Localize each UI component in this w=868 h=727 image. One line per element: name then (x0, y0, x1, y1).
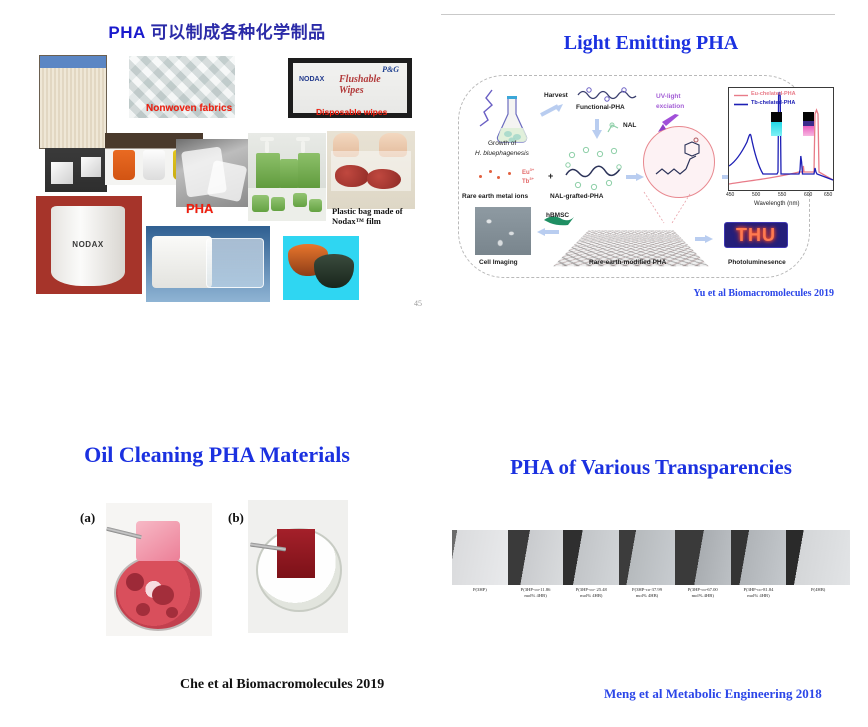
vial-photo-cyan (771, 112, 782, 136)
film-label-3: P(3HP-co- 25.48 mol% 4HB) (563, 587, 619, 598)
film-label-7-line1: P(4HB) (786, 587, 850, 593)
arrow-to-photoluminesence (694, 234, 714, 244)
green-bottle-right (298, 153, 320, 189)
legend-eu-line (734, 93, 748, 98)
film-label-3-line2: mol% 4HB) (563, 593, 619, 599)
label-uv-light: UV-light (656, 93, 681, 100)
header-divider (441, 14, 835, 15)
film-label-5: P(3HP-co-67.00 mol% 4HB) (675, 587, 731, 598)
caption-nonwoven-fabrics: Nonwoven fabrics (146, 103, 232, 114)
label-nal-grafted-pha: NAL-grafted-PHA (550, 193, 603, 200)
label-uv-exciation: exciation (656, 103, 684, 110)
chelate-structure-icon (652, 134, 708, 190)
xtick-550: 550 (778, 192, 786, 198)
pump-stem-right (301, 141, 305, 153)
caption-disposable-wipes: Disposable wipes (316, 107, 387, 117)
film-label-1: P(3HP) (452, 587, 508, 598)
photo-nodax-cup: NODAX (36, 196, 142, 294)
label-photoluminesence: Photoluminesence (728, 259, 786, 266)
film-cell-2 (508, 530, 564, 585)
photo-cell-imaging (475, 207, 531, 255)
cup-body-shape: NODAX (51, 206, 125, 286)
bottle-orange (113, 150, 135, 180)
polymer-chain-icon-left (474, 88, 500, 128)
legend-tb-label: Tb-chelated-PHA (751, 100, 795, 106)
photo-oil-absorption-b (248, 500, 348, 633)
film-label-2: P(3HP-co-11.86 mol% 4HB) (508, 587, 564, 598)
green-bottle-left (256, 153, 280, 189)
label-harvest: Harvest (544, 92, 568, 99)
soap-box-1 (252, 195, 269, 212)
film-label-4: P(3HP-co-37.99 mol% 4HB) (619, 587, 675, 598)
tray-clear-lid-shape (206, 238, 264, 288)
photo-white-cubes (45, 148, 107, 192)
bowl-dark (314, 254, 354, 288)
xtick-450: 450 (726, 192, 734, 198)
wipes-brand-label: NODAX (299, 76, 324, 83)
ion-dot-1 (479, 175, 482, 178)
label-cell-imaging: Cell Imaging (479, 259, 518, 266)
red-film-b (277, 529, 315, 578)
slide-light-emitting-pha: Light Emitting PHA Harvest Functional-PH… (434, 0, 868, 330)
film-cell-7 (786, 530, 850, 585)
film-label-2-line2: mol% 4HB) (508, 593, 564, 599)
oil-droplet-1 (126, 573, 144, 591)
cube-shape-right (81, 157, 101, 177)
film-label-7: P(4HB) (786, 587, 850, 598)
bottle-white (143, 150, 165, 180)
photo-colored-bowls (283, 236, 359, 300)
photo-pha-clear-film (176, 139, 251, 207)
pink-sponge-a (136, 521, 180, 561)
wipes-pg-logo: P&G (382, 65, 399, 74)
caption-plastic-bag-line2: Nodax™ film (332, 217, 403, 227)
ion-dot-4 (508, 172, 511, 175)
label-rare-earth-modified-pha: Rare-earth-modified PHA (589, 259, 666, 266)
label-plus-sign: + (548, 171, 553, 181)
film-cell-1 (452, 530, 508, 585)
page-title-light-emitting-pha: Light Emitting PHA (434, 32, 868, 55)
title-latin-text: PHA (108, 23, 145, 42)
film-cell-3 (563, 530, 619, 585)
photo-green-soap-boxes (248, 188, 326, 221)
xtick-600: 600 (804, 192, 812, 198)
soap-box-4 (309, 199, 322, 212)
page-title-oil-cleaning: Oil Cleaning PHA Materials (0, 442, 434, 468)
oil-droplet-2 (152, 585, 174, 605)
cube-shape-left (51, 162, 73, 184)
page-number: 45 (414, 299, 422, 308)
film-label-row: P(3HP) P(3HP-co-11.86 mol% 4HB) P(3HP-co… (452, 587, 850, 598)
xtick-650: 650 (824, 192, 832, 198)
film-label-6-line2: mol% 4HB) (731, 593, 787, 599)
photo-oil-absorption-a (106, 503, 212, 636)
wipes-product-label: Flushable Wipes (339, 74, 407, 96)
label-growth-of: Growth of (488, 140, 516, 147)
arrow-harvest (540, 103, 564, 117)
oil-droplet-3 (136, 603, 150, 616)
uv-flashlight-icon (656, 114, 682, 134)
film-label-1-line1: P(3HP) (452, 587, 508, 593)
ion-dot-2 (489, 170, 492, 173)
vial-photo-magenta (803, 112, 814, 136)
film-sheet-shape-2 (207, 160, 248, 202)
label-h-bluephagenesis: H. bluephagenesis (475, 150, 529, 157)
arrow-nal (591, 118, 603, 140)
green-bottle-middle (280, 159, 298, 189)
title-chinese-text: 可以制成各种化学制品 (146, 23, 326, 42)
slide-pha-transparencies: PHA of Various Transparencies P(3HP) P(3… (434, 400, 868, 727)
caption-plastic-bag: Plastic bag made of Nodax™ film (332, 207, 403, 227)
arrow-hbmsc (536, 226, 560, 238)
functional-pha-chain-icon (576, 86, 638, 102)
page-title-pha-transparencies: PHA of Various Transparencies (434, 455, 868, 480)
oil-droplet-4 (166, 607, 178, 618)
pump-stem-left (265, 141, 269, 153)
tb-charge: 3+ (529, 176, 534, 181)
emission-spectrum-chart: Eu-chelated-PHA Tb-chelated-PHA (728, 87, 834, 191)
panel-label-b: (b) (228, 510, 244, 526)
film-label-6: P(3HP-co-81.84 mol% 4HB) (731, 587, 787, 598)
zoom-connector-lines (642, 190, 702, 226)
panel-label-a: (a) (80, 510, 95, 526)
label-nal: NAL (623, 122, 636, 129)
xaxis-label: Wavelength (nm) (754, 201, 799, 207)
soap-box-2 (271, 197, 285, 211)
label-functional-pha: Functional-PHA (576, 104, 625, 111)
photo-fiber-roll (39, 55, 107, 149)
legend-tb-line (734, 102, 748, 107)
arrow-to-complex (625, 172, 645, 182)
citation-meng-2018: Meng et al Metabolic Engineering 2018 (604, 686, 822, 702)
ion-dot-3 (497, 176, 500, 179)
xtick-500: 500 (752, 192, 760, 198)
film-label-5-line2: mol% 4HB) (675, 593, 731, 599)
label-tb-ion: Tb3+ (522, 177, 534, 186)
nal-grafted-pha-icon (562, 145, 624, 191)
photo-plastic-bag-film (327, 131, 415, 209)
page-title-pha-products: PHA 可以制成各种化学制品 (0, 18, 434, 43)
slide-pha-products: PHA 可以制成各种化学制品 Nonwoven fabrics NODAX Fl… (0, 0, 434, 330)
cup-logo-label: NODAX (51, 240, 125, 249)
meat-shape-1 (335, 165, 369, 187)
photo-clear-tray (146, 226, 270, 302)
nal-molecule-icon (605, 121, 621, 135)
meat-shape-2 (367, 169, 401, 189)
photo-green-pump-bottles (248, 133, 326, 196)
film-cell-6 (731, 530, 787, 585)
thu-photoluminesence-image: THU (724, 222, 788, 248)
soap-box-3 (293, 193, 307, 207)
film-transparency-strip (452, 530, 850, 585)
label-hbmsc: hBMSC (546, 212, 569, 219)
legend-eu-label: Eu-chelated-PHA (751, 91, 796, 97)
film-label-4-line2: mol% 4HB) (619, 593, 675, 599)
tray-white-shape (152, 236, 212, 288)
film-cell-5 (675, 530, 731, 585)
eu-charge: 3+ (530, 167, 535, 172)
label-rare-earth-metal-ions: Rare earth metal ions (462, 193, 528, 200)
slide-oil-cleaning-pha: Oil Cleaning PHA Materials (a) (b) Che e… (0, 400, 434, 727)
caption-pha: PHA (186, 201, 213, 216)
citation-che-2019: Che et al Biomacromolecules 2019 (180, 677, 384, 693)
film-cell-4 (619, 530, 675, 585)
citation-yu-2019: Yu et al Biomacromolecules 2019 (693, 288, 834, 299)
